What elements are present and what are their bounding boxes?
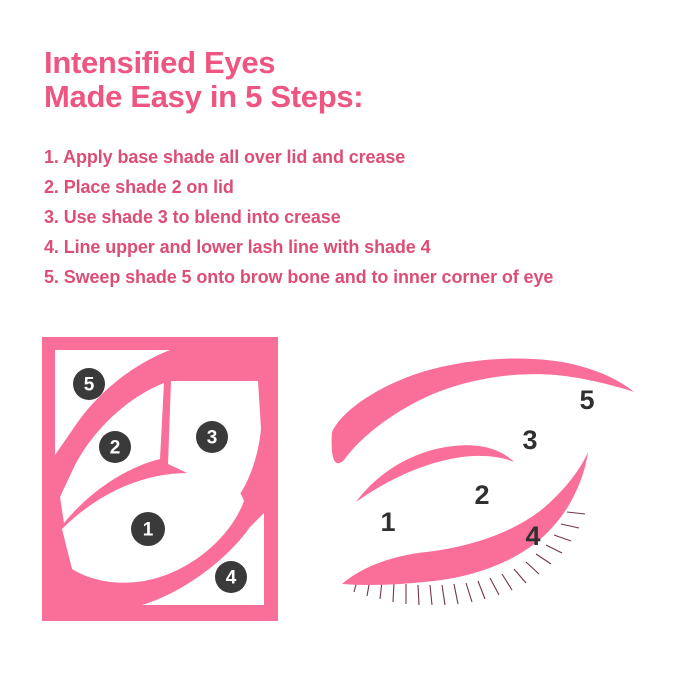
- eye-placement-diagram: 1 2 3 4 5: [330, 340, 642, 622]
- badge-label-1: 1: [143, 520, 154, 541]
- step-item-3: 3. Use shade 3 to blend into crease: [44, 202, 664, 232]
- stencil-badge-1: 1: [131, 512, 165, 546]
- stencil-badge-2: 2: [99, 431, 131, 463]
- page-title-line-2: Made Easy in 5 Steps:: [44, 80, 644, 114]
- stencil-svg: 5 2 3 1 4: [42, 337, 278, 621]
- step-item-2: 2. Place shade 2 on lid: [44, 172, 664, 202]
- eye-diagram-svg: 1 2 3 4 5: [330, 340, 642, 622]
- page-title: Intensified Eyes Made Easy in 5 Steps:: [44, 46, 644, 114]
- eye-number-5: 5: [579, 385, 594, 415]
- crease-line: [356, 445, 514, 502]
- step-item-5: 5. Sweep shade 5 onto brow bone and to i…: [44, 262, 664, 292]
- badge-label-4: 4: [226, 568, 237, 589]
- eye-number-4: 4: [525, 521, 540, 551]
- badge-label-3: 3: [207, 428, 218, 449]
- stencil-badge-3: 3: [196, 421, 228, 453]
- badge-label-5: 5: [84, 375, 95, 396]
- stencil-badge-5: 5: [73, 368, 105, 400]
- eye-number-1: 1: [380, 507, 395, 537]
- step-item-4: 4. Line upper and lower lash line with s…: [44, 232, 664, 262]
- eye-number-3: 3: [522, 425, 537, 455]
- page-title-line-1: Intensified Eyes: [44, 46, 644, 80]
- badge-label-2: 2: [110, 438, 121, 459]
- step-item-1: 1. Apply base shade all over lid and cre…: [44, 142, 664, 172]
- eyeshadow-stencil-card: 5 2 3 1 4: [42, 337, 278, 621]
- lash-line-shape: [342, 452, 588, 585]
- stencil-badge-4: 4: [215, 561, 247, 593]
- eye-number-2: 2: [474, 480, 489, 510]
- steps-list: 1. Apply base shade all over lid and cre…: [44, 142, 664, 292]
- infographic-page: Intensified Eyes Made Easy in 5 Steps: 1…: [0, 0, 679, 679]
